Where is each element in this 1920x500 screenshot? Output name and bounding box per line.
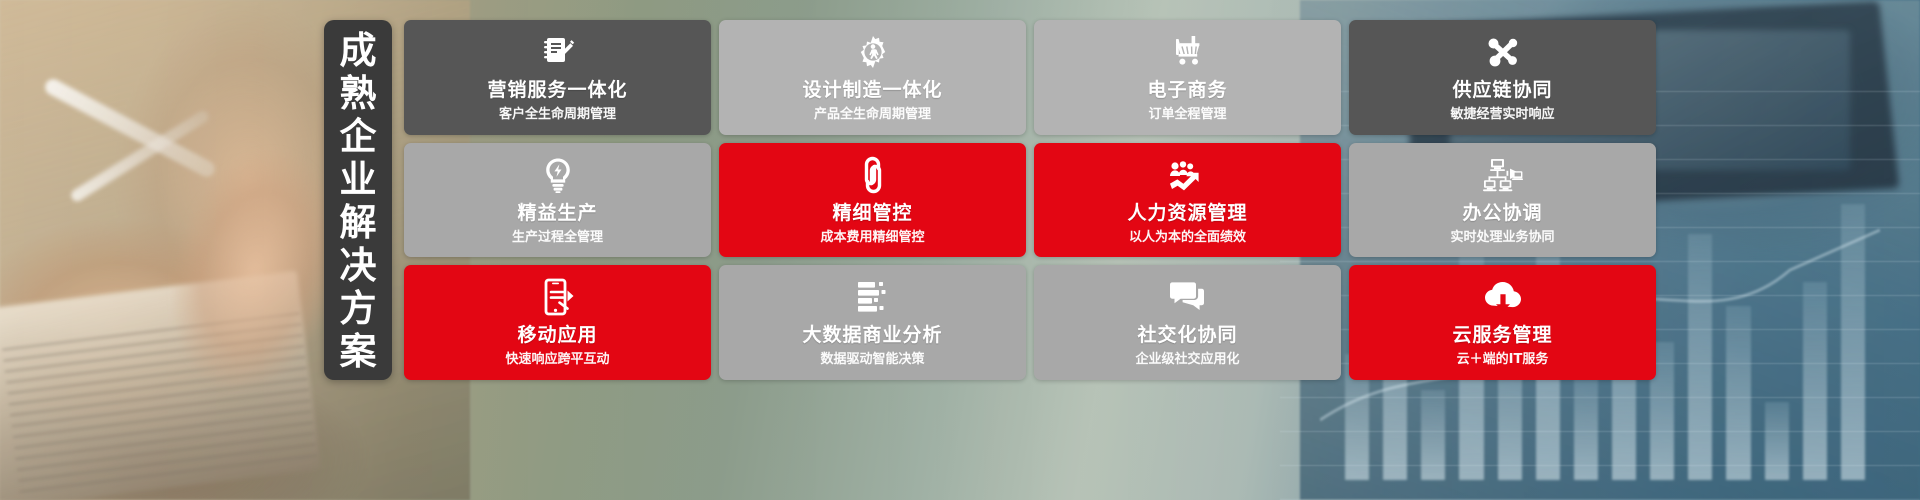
vertical-headline-panel: 成 熟 企 业 解 决 方 案 [324,20,392,380]
solution-card-title: 大数据商业分析 [802,325,942,347]
solution-card-title: 营销服务一体化 [487,80,627,102]
solution-card-big-data-analytics[interactable]: 大数据商业分析 数据驱动智能决策 [719,265,1026,380]
solution-card-hr-management[interactable]: 人力资源管理 以人为本的全面绩效 [1034,143,1341,258]
gear-person-icon [855,32,891,72]
headline-char-4: 业 [340,161,377,198]
solution-card-marketing-service[interactable]: 营销服务一体化 客户全生命周期管理 [404,20,711,135]
solution-card-subtitle: 订单全程管理 [1148,107,1226,123]
headline-char-6: 决 [340,247,377,284]
solution-card-subtitle: 敏捷经营实时响应 [1450,107,1554,123]
network-share-nodes-icon [1484,32,1522,72]
paperclip-link-icon [858,155,888,195]
headline-char-1: 成 [340,32,377,69]
solution-card-social-collaboration[interactable]: 社交化协同 企业级社交应用化 [1034,265,1341,380]
solution-card-subtitle: 云＋端的IT服务 [1457,352,1549,368]
solution-card-cloud-service[interactable]: 云服务管理 云＋端的IT服务 [1349,265,1656,380]
solution-card-subtitle: 数据驱动智能决策 [820,352,924,368]
solution-card-subtitle: 实时处理业务协同 [1450,230,1554,246]
solution-card-mobile-app[interactable]: 移动应用 快速响应跨平互动 [404,265,711,380]
solution-card-supply-chain[interactable]: 供应链协同 敏捷经营实时响应 [1349,20,1656,135]
solution-card-title: 精益生产 [517,203,597,225]
solution-card-title: 云服务管理 [1452,325,1552,347]
solution-card-subtitle: 以人为本的全面绩效 [1129,230,1246,246]
solution-card-subtitle: 成本费用精细管控 [820,230,924,246]
solution-card-title: 设计制造一体化 [802,80,942,102]
shopping-cart-download-icon [1169,32,1207,72]
solution-card-title: 电子商务 [1147,80,1227,102]
headline-char-7: 方 [340,290,377,327]
headline-char-3: 企 [340,118,377,155]
solution-card-title: 办公协调 [1462,203,1542,225]
solution-card-fine-control[interactable]: 精细管控 成本费用精细管控 [719,143,1026,258]
notebook-pencil-icon [540,32,576,72]
solution-card-subtitle: 生产过程全管理 [512,230,603,246]
lightbulb-bolt-icon [542,155,574,195]
solution-card-title: 供应链协同 [1452,80,1552,102]
people-growth-arrow-icon [1168,155,1208,195]
headline-char-5: 解 [340,204,377,241]
solution-card-grid: 营销服务一体化 客户全生命周期管理 设计制造一体化 产品全生命周期管理 [404,20,1656,380]
solution-card-subtitle: 快速响应跨平互动 [505,352,609,368]
solution-card-title: 精细管控 [832,203,912,225]
cloud-download-icon [1483,277,1523,317]
solution-card-office-collaboration[interactable]: 办公协调 实时处理业务协同 [1349,143,1656,258]
solution-card-title: 人力资源管理 [1127,203,1247,225]
solution-banner: 成 熟 企 业 解 决 方 案 [0,0,1920,500]
solution-card-subtitle: 企业级社交应用化 [1135,352,1239,368]
solution-card-lean-production[interactable]: 精益生产 生产过程全管理 [404,143,711,258]
solution-card-subtitle: 产品全生命周期管理 [814,107,931,123]
solution-card-design-manufacture[interactable]: 设计制造一体化 产品全生命周期管理 [719,20,1026,135]
solution-card-ecommerce[interactable]: 电子商务 订单全程管理 [1034,20,1341,135]
data-bars-icon [856,277,890,317]
solution-card-title: 社交化协同 [1137,325,1237,347]
headline-char-2: 熟 [340,75,377,112]
headline-char-8: 案 [340,333,377,370]
mobile-device-icon [541,277,575,317]
solution-card-subtitle: 客户全生命周期管理 [499,107,616,123]
connected-computers-icon [1483,155,1523,195]
solution-card-title: 移动应用 [517,325,597,347]
chat-bubbles-icon [1168,277,1208,317]
